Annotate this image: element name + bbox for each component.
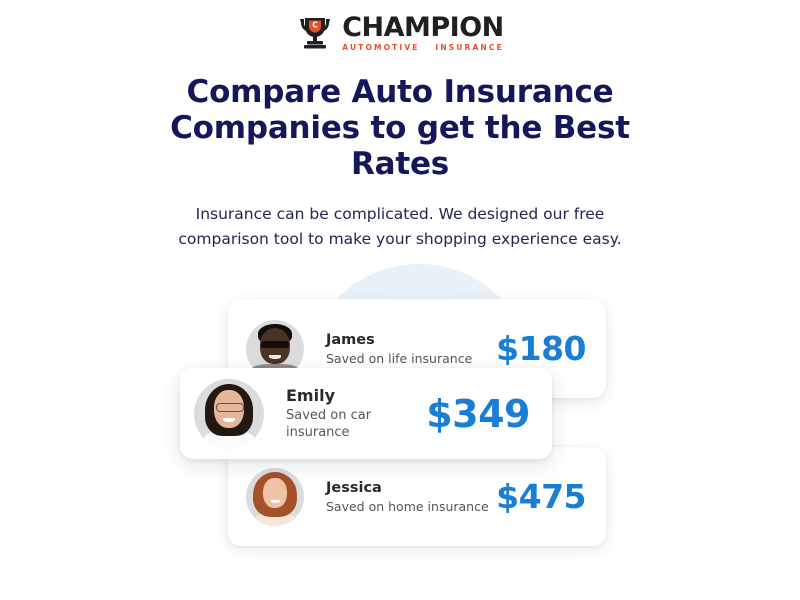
savings-card-emily[interactable]: Emily Saved on car insurance $349 [180, 368, 552, 459]
brand-wordmark: CHAMPION AUTOMOTIVE INSURANCE [342, 14, 504, 52]
avatar-jessica-art [246, 468, 304, 526]
person-name: James [326, 331, 496, 349]
card-text: James Saved on life insurance [304, 331, 496, 367]
savings-showcase: James Saved on life insurance $180 Emily… [0, 257, 800, 587]
page-title: Compare Auto Insurance Companies to get … [165, 74, 635, 183]
card-text: Emily Saved on car insurance [264, 386, 426, 442]
brand-name: CHAMPION [342, 14, 504, 41]
brand-logo[interactable]: C CHAMPION AUTOMOTIVE INSURANCE [296, 14, 504, 52]
site-header: C CHAMPION AUTOMOTIVE INSURANCE [0, 0, 800, 52]
hero-section: Compare Auto Insurance Companies to get … [0, 74, 800, 252]
savings-amount: $475 [496, 480, 586, 513]
brand-tagline: AUTOMOTIVE INSURANCE [342, 44, 504, 52]
savings-card-jessica[interactable]: Jessica Saved on home insurance $475 [228, 447, 606, 546]
avatar [194, 379, 264, 449]
hero-subtitle: Insurance can be complicated. We designe… [163, 202, 638, 251]
person-name: Emily [286, 386, 426, 406]
savings-amount: $349 [426, 395, 530, 433]
person-subtitle: Saved on home insurance [326, 499, 496, 515]
card-text: Jessica Saved on home insurance [304, 479, 496, 515]
trophy-icon: C [296, 16, 334, 50]
svg-text:C: C [312, 20, 318, 29]
person-subtitle: Saved on life insurance [326, 351, 496, 367]
person-name: Jessica [326, 479, 496, 497]
savings-amount: $180 [496, 332, 586, 365]
avatar [246, 468, 304, 526]
person-subtitle: Saved on car insurance [286, 408, 426, 442]
avatar-emily-art [194, 379, 264, 449]
